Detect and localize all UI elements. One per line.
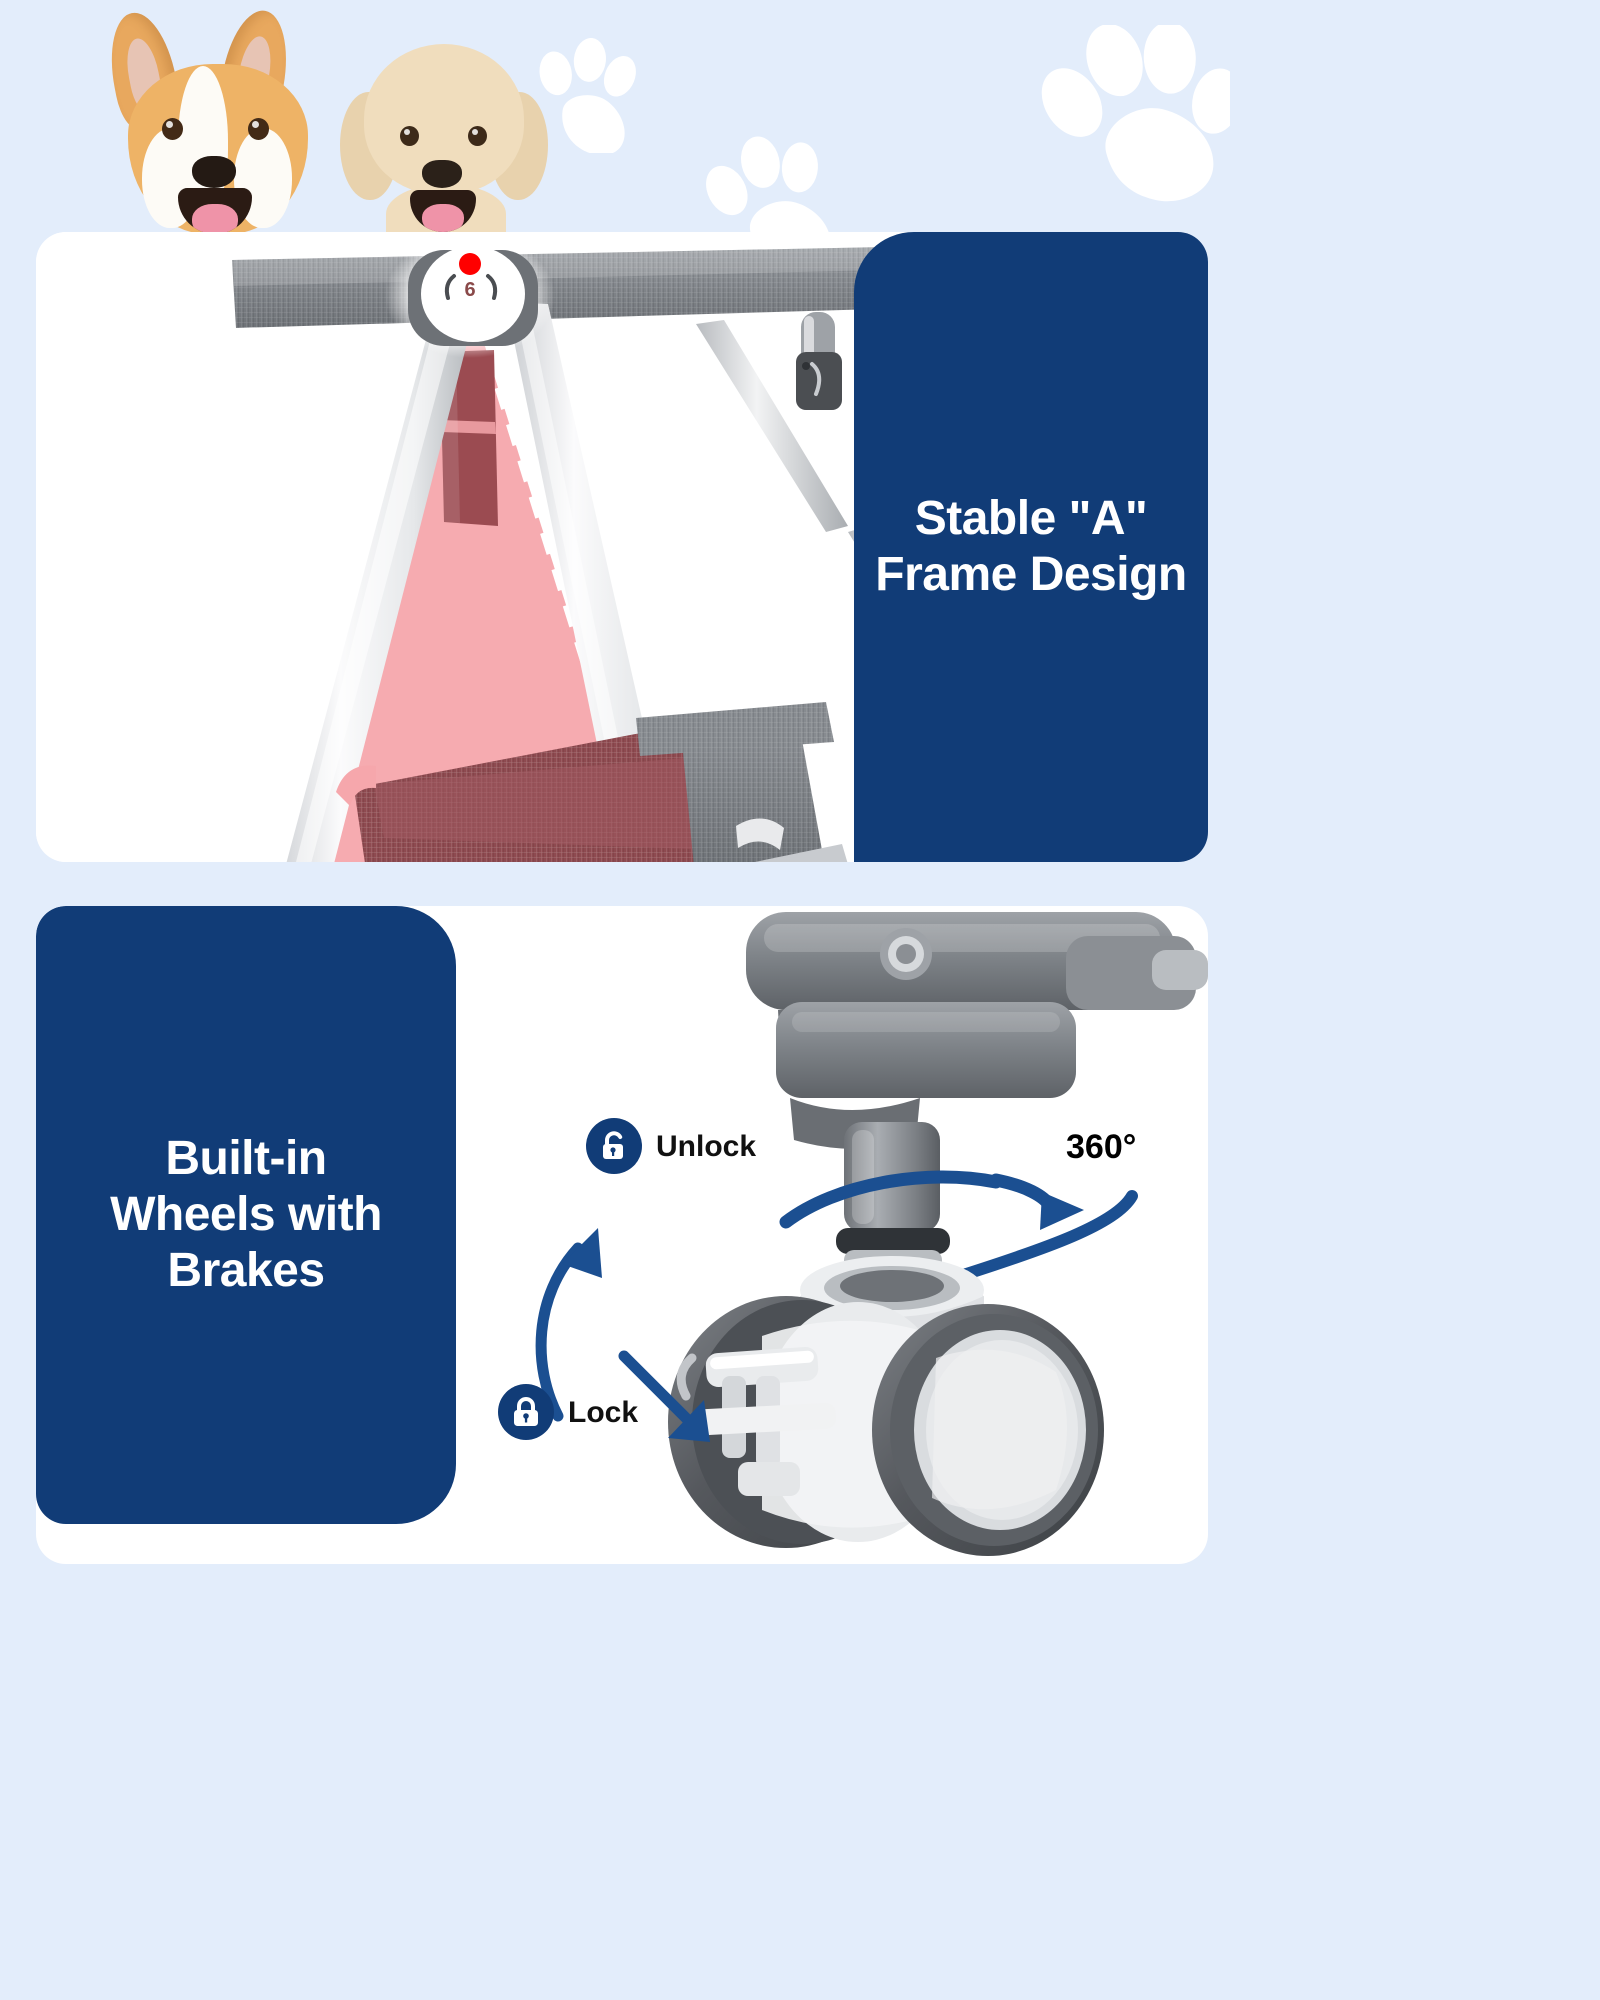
panel-wheels: Unlock Lock 360° Built-in <box>36 906 1208 1564</box>
wheels-caption-block: Built-in Wheels with Brakes <box>36 906 456 1524</box>
corgi-eye-right <box>248 118 269 140</box>
caster-mounting-arm <box>746 912 1208 1149</box>
corgi-tongue <box>192 204 238 232</box>
poodle-tongue <box>422 204 464 232</box>
paw-print-edge-right-icon <box>533 38 643 153</box>
panel-a-frame: 6 <box>36 232 1208 862</box>
corgi-eye-left <box>162 118 183 140</box>
svg-text:6: 6 <box>464 279 475 301</box>
vertex-marker-top <box>459 253 481 275</box>
paw-print-small-center-icon <box>706 135 836 232</box>
paw-print-large-right-icon <box>1040 25 1230 225</box>
lock-arrow-icon <box>606 1344 746 1474</box>
dog-corgi-image <box>106 6 331 232</box>
rotation-degrees-label: 360° <box>1066 1128 1136 1167</box>
a-frame-product-photo: 6 <box>36 232 1208 862</box>
wheels-headline: Built-in Wheels with Brakes <box>110 1131 382 1298</box>
lock-icon <box>498 1384 554 1440</box>
hero-strip <box>0 0 1244 232</box>
a-frame-caption-block: Stable "A" Frame Design <box>854 232 1208 862</box>
a-frame-headline: Stable "A" Frame Design <box>875 491 1186 602</box>
poodle-eye-right <box>468 126 487 146</box>
poodle-eye-left <box>400 126 419 146</box>
poodle-nose <box>422 160 462 188</box>
infographic-page: 6 <box>0 0 1244 1600</box>
dog-poodle-image <box>340 34 545 232</box>
corgi-nose <box>192 156 236 188</box>
